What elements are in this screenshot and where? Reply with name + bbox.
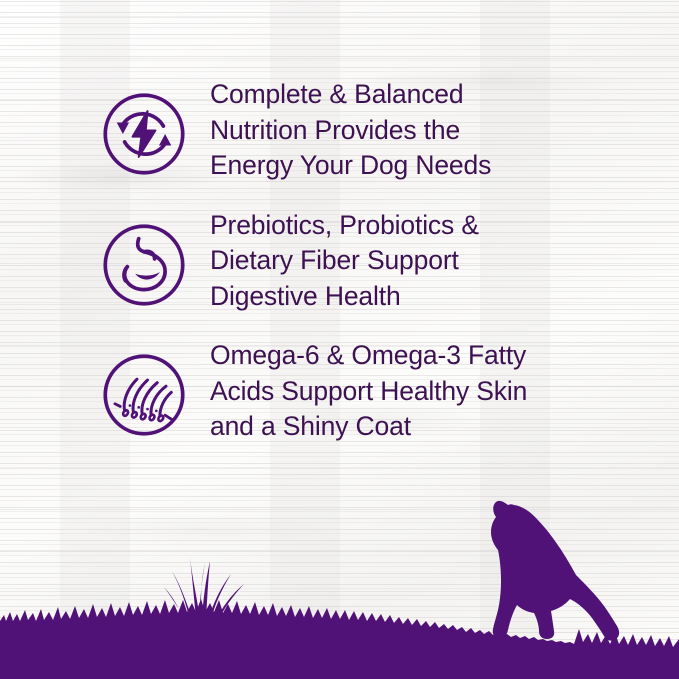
benefit-text-digestion: Prebiotics, Probiotics & Dietary Fiber S… [188,206,679,315]
energy-cycle-icon [100,90,188,178]
benefit-text-energy: Complete & Balanced Nutrition Provides t… [188,75,679,184]
benefits-list: Complete & Balanced Nutrition Provides t… [0,75,679,467]
benefit-item-digestion: Prebiotics, Probiotics & Dietary Fiber S… [0,206,679,315]
benefit-item-energy: Complete & Balanced Nutrition Provides t… [0,75,679,184]
benefit-item-skin-coat: Omega-6 & Omega-3 Fatty Acids Support He… [0,336,679,445]
benefit-text-skin-coat: Omega-6 & Omega-3 Fatty Acids Support He… [188,336,679,445]
poster-root: Complete & Balanced Nutrition Provides t… [0,0,679,679]
hair-follicle-icon [100,351,188,439]
stomach-digestion-icon [100,221,188,309]
